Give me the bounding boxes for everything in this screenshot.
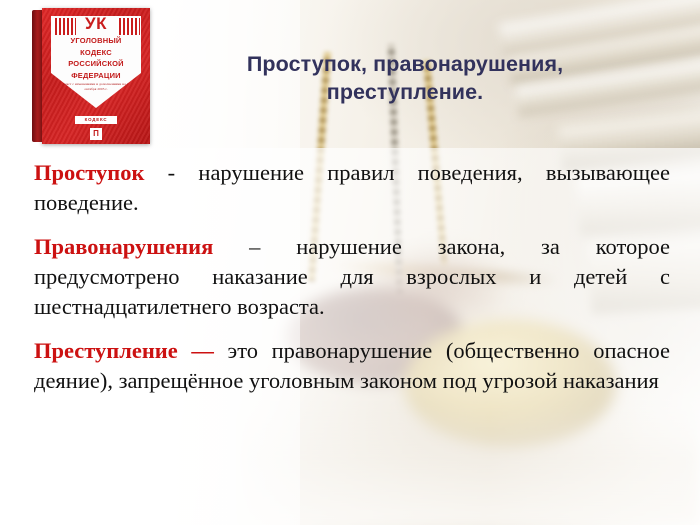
book-title-line-3: РОССИЙСКОЙ [54, 58, 138, 70]
definition-separator: - [168, 160, 176, 185]
book-subtitle: текст с изменениями и дополнениями на 1 … [60, 82, 132, 91]
book-publisher-badge: КОДЕКС [75, 116, 117, 124]
book-title-block: УГОЛОВНЫЙ КОДЕКС РОССИЙСКОЙ ФЕДЕРАЦИИ [54, 35, 138, 81]
book-title-line-1: УГОЛОВНЫЙ [54, 35, 138, 47]
definitions-list: Проступок - нарушение правил поведения, … [34, 158, 670, 396]
book-publisher-logo: П [90, 128, 102, 140]
definition-separator: – [249, 234, 260, 259]
definition-item: Преступление — это правонарушение (общес… [34, 336, 670, 396]
book-abbreviation: УК [42, 14, 150, 34]
definition-term: Правонарушения [34, 234, 213, 259]
slide-title: Проступок, правонарушения, преступление. [170, 50, 640, 106]
definition-term: Преступление [34, 338, 178, 363]
definition-item: Проступок - нарушение правил поведения, … [34, 158, 670, 218]
definition-item: Правонарушения – нарушение закона, за ко… [34, 232, 670, 322]
slide-canvas: УК УГОЛОВНЫЙ КОДЕКС РОССИЙСКОЙ ФЕДЕРАЦИИ… [0, 0, 700, 525]
criminal-code-book-image: УК УГОЛОВНЫЙ КОДЕКС РОССИЙСКОЙ ФЕДЕРАЦИИ… [32, 8, 150, 144]
definition-term: Проступок [34, 160, 144, 185]
book-title-line-4: ФЕДЕРАЦИИ [54, 70, 138, 82]
book-title-line-2: КОДЕКС [54, 47, 138, 59]
book-cover: УК УГОЛОВНЫЙ КОДЕКС РОССИЙСКОЙ ФЕДЕРАЦИИ… [42, 8, 150, 144]
definition-separator: — [191, 338, 214, 363]
